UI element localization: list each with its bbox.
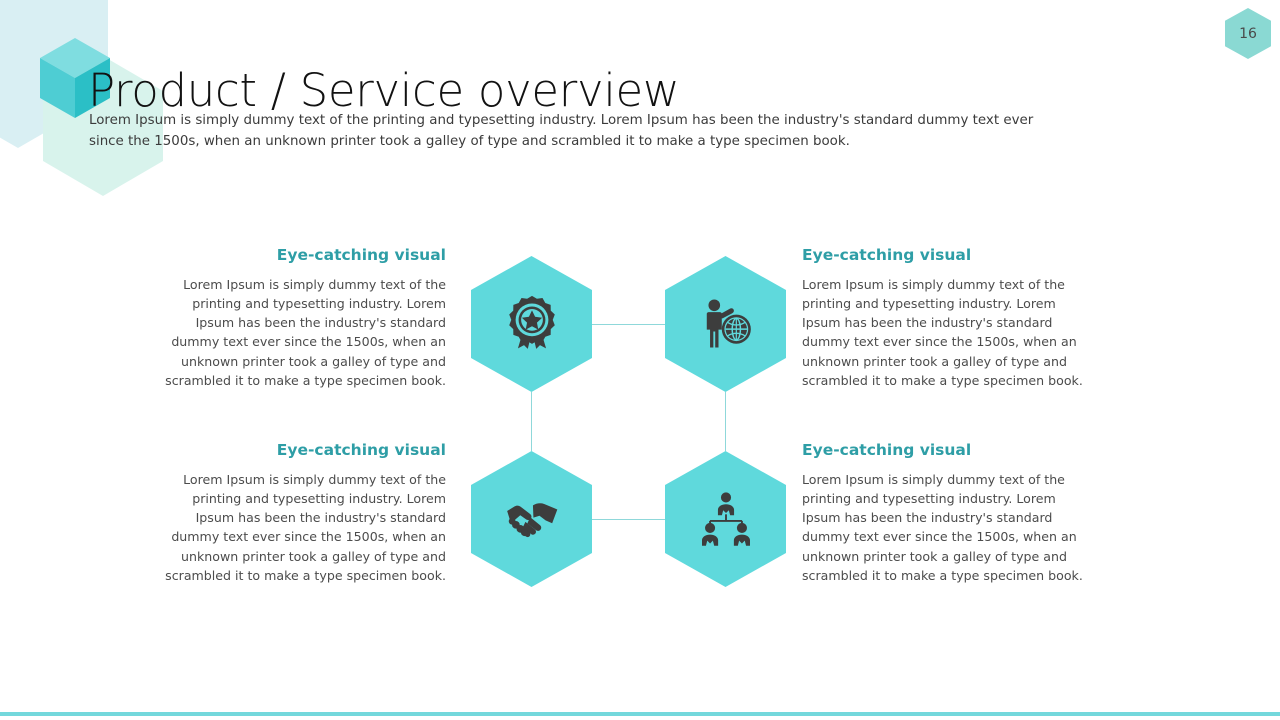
feature-block-3: Eye-catching visual Lorem Ipsum is simpl…: [160, 441, 446, 585]
hexagon-diagram: [455, 250, 795, 595]
page-title: Product / Service overview: [88, 66, 679, 116]
presenter-globe-icon: [696, 294, 756, 354]
feature-title: Eye-catching visual: [802, 246, 1088, 265]
hexagon-tile-4[interactable]: [665, 451, 786, 587]
feature-title: Eye-catching visual: [802, 441, 1088, 460]
page-subtitle: Lorem Ipsum is simply dummy text of the …: [89, 111, 1049, 153]
award-ribbon-icon: [502, 294, 562, 354]
page-number-badge: 16: [1225, 8, 1271, 59]
deco-cube-left-face: [40, 58, 75, 118]
feature-body: Lorem Ipsum is simply dummy text of the …: [802, 470, 1088, 586]
hexagon-tile-2[interactable]: [665, 256, 786, 392]
feature-body: Lorem Ipsum is simply dummy text of the …: [160, 275, 446, 391]
connector-left-vertical: [531, 392, 532, 451]
feature-block-2: Eye-catching visual Lorem Ipsum is simpl…: [802, 246, 1088, 390]
bottom-accent-bar: [0, 712, 1280, 716]
feature-title: Eye-catching visual: [160, 441, 446, 460]
team-org-chart-icon: [696, 489, 756, 549]
page-number-label: 16: [1239, 26, 1257, 42]
handshake-icon: [502, 489, 562, 549]
feature-body: Lorem Ipsum is simply dummy text of the …: [160, 470, 446, 586]
feature-body: Lorem Ipsum is simply dummy text of the …: [802, 275, 1088, 391]
hexagon-tile-3[interactable]: [471, 451, 592, 587]
feature-block-4: Eye-catching visual Lorem Ipsum is simpl…: [802, 441, 1088, 585]
feature-title: Eye-catching visual: [160, 246, 446, 265]
hexagon-tile-1[interactable]: [471, 256, 592, 392]
connector-right-vertical: [725, 392, 726, 451]
feature-block-1: Eye-catching visual Lorem Ipsum is simpl…: [160, 246, 446, 390]
